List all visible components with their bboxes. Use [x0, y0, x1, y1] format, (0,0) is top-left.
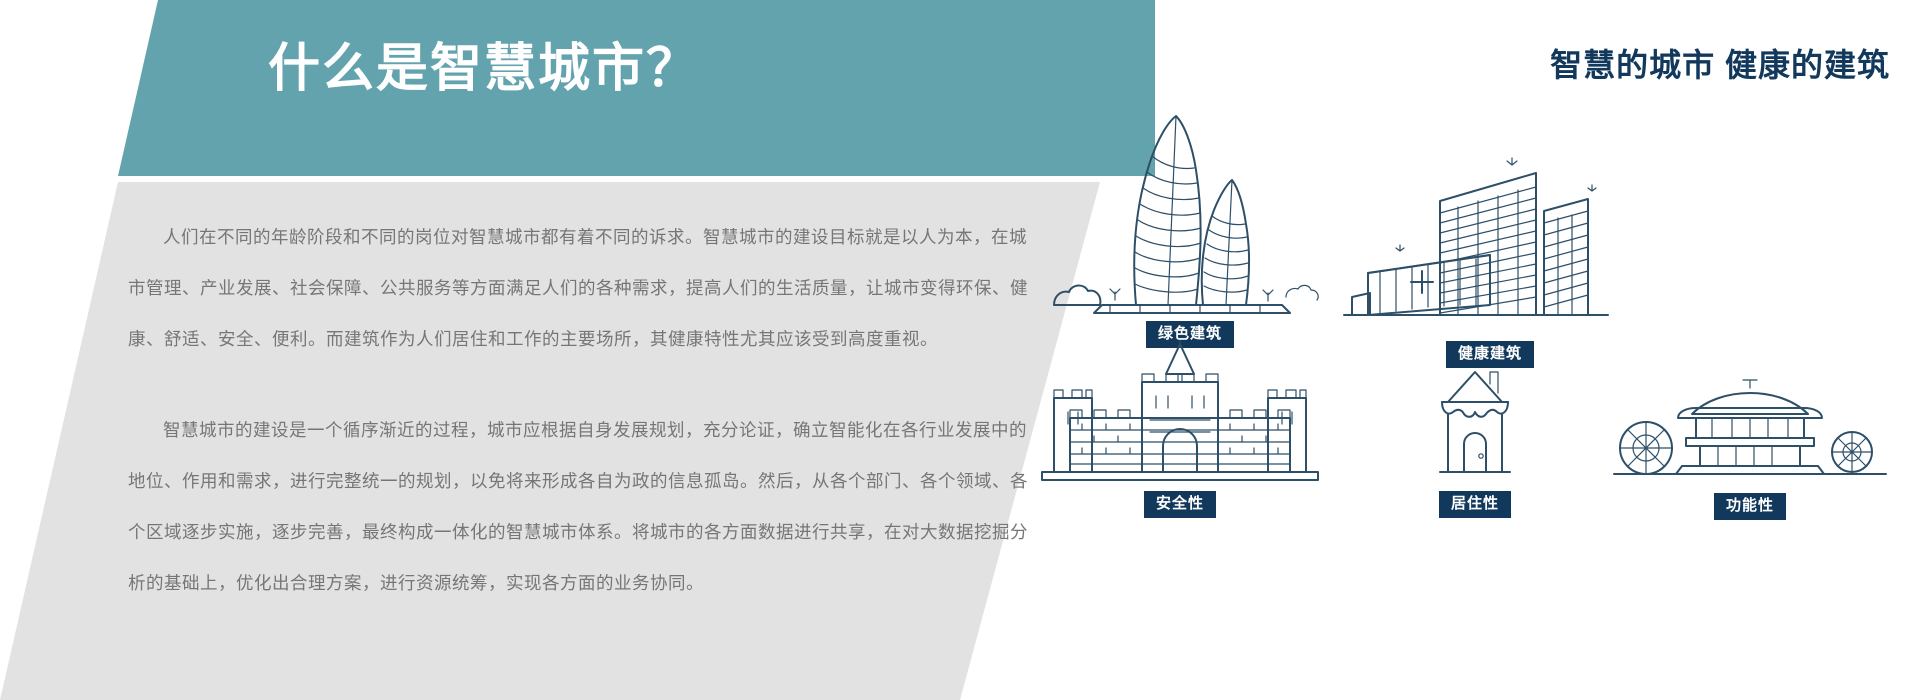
pavilion-icon [1600, 362, 1900, 487]
paragraph-1: 人们在不同的年龄阶段和不同的岗位对智慧城市都有着不同的诉求。智慧城市的建设目标就… [128, 212, 1028, 365]
tagline-heading: 智慧的城市 健康的建筑 [1550, 40, 1890, 86]
twisted-towers-icon [1040, 100, 1340, 315]
illustration-group: 绿色建筑 健康建筑 [1040, 100, 1900, 690]
castle-icon [1030, 340, 1330, 485]
hospital-complex-icon [1340, 155, 1640, 335]
house-shop-icon [1330, 360, 1620, 485]
illustration-label-functionality: 功能性 [1714, 493, 1786, 520]
illustration-item-green-building: 绿色建筑 [1040, 100, 1340, 348]
illustration-item-livability: 居住性 [1330, 360, 1620, 518]
illustration-item-safety: 安全性 [1030, 340, 1330, 518]
illustration-item-functionality: 功能性 [1600, 362, 1900, 520]
illustration-label-livability: 居住性 [1439, 491, 1511, 518]
body-text-block: 人们在不同的年龄阶段和不同的岗位对智慧城市都有着不同的诉求。智慧城市的建设目标就… [128, 212, 1028, 609]
paragraph-2: 智慧城市的建设是一个循序渐近的过程，城市应根据自身发展规划，充分论证，确立智能化… [128, 405, 1028, 609]
page-title: 什么是智慧城市？ [268, 36, 700, 104]
illustration-label-safety: 安全性 [1144, 491, 1216, 518]
illustration-item-healthy-building: 健康建筑 [1340, 155, 1640, 368]
